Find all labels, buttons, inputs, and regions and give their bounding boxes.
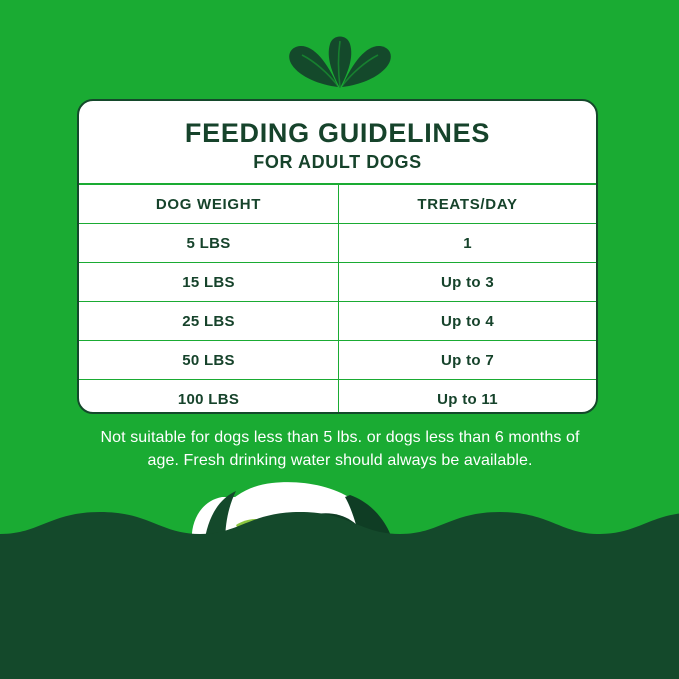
table-row: 50 LBS Up to 7	[79, 341, 596, 380]
table-row: 25 LBS Up to 4	[79, 302, 596, 341]
cell-dog-weight: 25 LBS	[79, 302, 339, 341]
cell-dog-weight: 15 LBS	[79, 263, 339, 302]
feeding-guidelines-card: FEEDING GUIDELINES FOR ADULT DOGS DOG WE…	[77, 99, 598, 414]
cell-treats-day: Up to 7	[339, 341, 596, 380]
table-row: 100 LBS Up to 11	[79, 380, 596, 415]
illustration-scene	[0, 479, 679, 679]
cell-treats-day: 1	[339, 224, 596, 263]
brand-logo	[0, 28, 679, 92]
disclaimer-text: Not suitable for dogs less than 5 lbs. o…	[90, 427, 590, 472]
page-subtitle: FOR ADULT DOGS	[79, 152, 596, 173]
feeding-table: DOG WEIGHT TREATS/DAY 5 LBS 1 15 LBS Up …	[79, 185, 596, 414]
table-row: 15 LBS Up to 3	[79, 263, 596, 302]
cell-treats-day: Up to 3	[339, 263, 596, 302]
column-header-dog-weight: DOG WEIGHT	[79, 185, 339, 224]
cell-dog-weight: 50 LBS	[79, 341, 339, 380]
cell-treats-day: Up to 11	[339, 380, 596, 415]
feeding-guidelines-panel: FEEDING GUIDELINES FOR ADULT DOGS DOG WE…	[0, 0, 679, 679]
card-header: FEEDING GUIDELINES FOR ADULT DOGS	[79, 101, 596, 185]
cell-dog-weight: 100 LBS	[79, 380, 339, 415]
three-leaves-icon	[280, 31, 400, 89]
table-row: 5 LBS 1	[79, 224, 596, 263]
cell-treats-day: Up to 4	[339, 302, 596, 341]
cell-dog-weight: 5 LBS	[79, 224, 339, 263]
column-header-treats-day: TREATS/DAY	[339, 185, 596, 224]
page-title: FEEDING GUIDELINES	[79, 119, 596, 147]
table-header-row: DOG WEIGHT TREATS/DAY	[79, 185, 596, 224]
